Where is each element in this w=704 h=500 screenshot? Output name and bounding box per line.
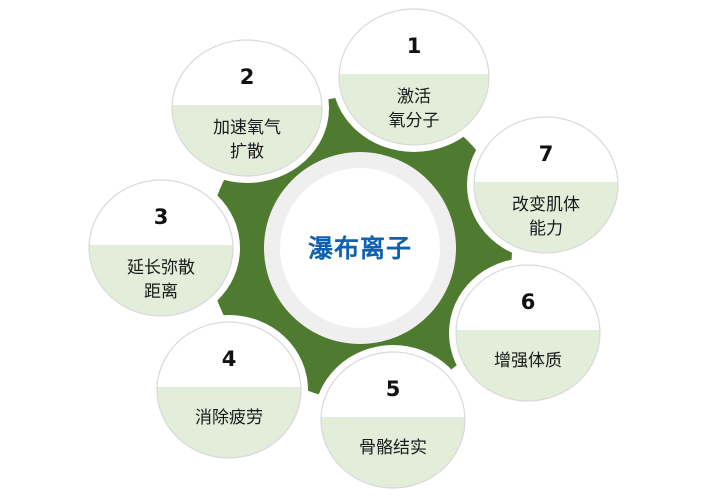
bubble-label-line: 加速氧气 bbox=[213, 118, 281, 138]
bubble-number: 5 bbox=[386, 377, 401, 401]
diagram-canvas: 瀑布离子 1激活氧分子2加速氧气扩散3延长弥散距离4消除疲劳5骨骼结实6增强体质… bbox=[0, 0, 704, 500]
bubble-label-line: 改变肌体 bbox=[512, 195, 580, 215]
bubble-label-line: 距离 bbox=[144, 282, 178, 302]
bubble-number: 4 bbox=[222, 347, 237, 371]
radial-petal-diagram: 瀑布离子 1激活氧分子2加速氧气扩散3延长弥散距离4消除疲劳5骨骼结实6增强体质… bbox=[0, 0, 704, 500]
bubble-node-3[interactable]: 3延长弥散距离 bbox=[87, 178, 235, 317]
center-label: 瀑布离子 bbox=[308, 234, 412, 263]
bubble-label-line: 扩散 bbox=[230, 142, 264, 162]
bubble-number: 6 bbox=[521, 290, 536, 314]
bubble-label-line: 氧分子 bbox=[389, 111, 440, 131]
bubble-label-line: 延长弥散 bbox=[127, 258, 195, 278]
bubble-label-line: 骨骼结实 bbox=[359, 438, 427, 458]
bubble-number: 2 bbox=[240, 65, 255, 89]
bubble-label-line: 能力 bbox=[529, 219, 563, 239]
bubble-label-line: 增强体质 bbox=[494, 351, 562, 371]
bubble-bottom-half bbox=[87, 245, 235, 317]
bubble-number: 7 bbox=[539, 142, 554, 166]
bubble-number: 1 bbox=[407, 34, 422, 58]
bubble-number: 3 bbox=[154, 205, 169, 229]
center-hub: 瀑布离子 bbox=[264, 152, 456, 344]
bubble-label-line: 消除疲劳 bbox=[195, 408, 263, 428]
bubble-label-line: 激活 bbox=[397, 87, 431, 107]
